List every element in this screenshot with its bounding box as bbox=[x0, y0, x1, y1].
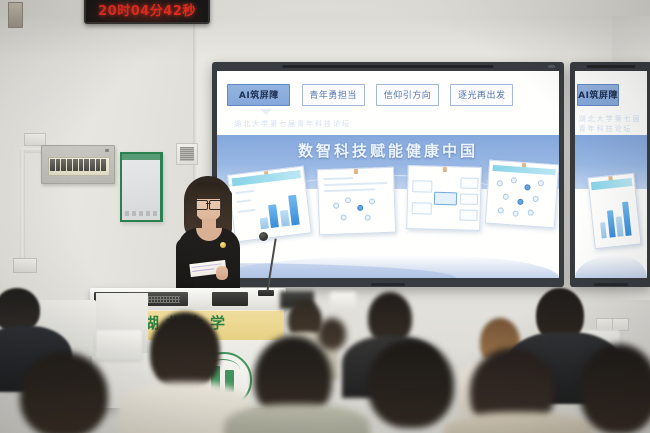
graph-node bbox=[517, 199, 523, 205]
microphone-head-icon bbox=[259, 232, 268, 241]
chart-bar bbox=[622, 201, 631, 235]
classroom-photo: 20时04分42秒 AI筑屏障 湖北大学第七届青年科技论坛 bbox=[0, 0, 650, 433]
chart-bar bbox=[268, 205, 279, 228]
slide-title: 数智科技赋能健康中国 bbox=[217, 140, 559, 161]
display-stand-foot bbox=[371, 283, 405, 286]
bezel-camera-bar bbox=[586, 65, 635, 68]
panel-indicator-icon bbox=[105, 149, 109, 152]
desk-monitor bbox=[330, 292, 356, 314]
diagram-node bbox=[368, 198, 374, 204]
graph-node bbox=[533, 196, 539, 202]
microphone-base bbox=[258, 290, 274, 296]
card-header-bar bbox=[590, 177, 632, 190]
graph-node bbox=[498, 207, 504, 213]
chart-bar bbox=[288, 195, 300, 226]
slide-subtitle-mirror: 湖北大学第七届青年科技论坛 bbox=[579, 117, 644, 131]
network-graph-card bbox=[485, 160, 559, 229]
whiteboard-text-lines bbox=[125, 211, 157, 216]
graph-node bbox=[513, 211, 519, 217]
bezel-camera-bar bbox=[282, 65, 493, 68]
main-display: AI筑屏障 青年勇担当 信仰引方向 逐光再出发 湖北大学第七届青年科技论坛 数智… bbox=[212, 62, 564, 287]
slide-wave-mirror bbox=[575, 255, 647, 278]
flow-node bbox=[459, 194, 477, 205]
document-diagram-card bbox=[317, 167, 396, 236]
secondary-display: AI筑屏障 湖北大学第七届青年科技论坛 bbox=[570, 62, 650, 287]
presentation-slide: AI筑屏障 青年勇担当 信仰引方向 逐光再出发 湖北大学第七届青年科技论坛 数智… bbox=[217, 71, 559, 278]
graph-node bbox=[511, 177, 517, 183]
clip-peg-icon bbox=[353, 167, 357, 174]
card-text-line bbox=[323, 182, 388, 186]
list-item bbox=[587, 172, 641, 249]
graph-node bbox=[524, 184, 530, 190]
tab-ai-barrier[interactable]: AI筑屏障 bbox=[227, 84, 290, 106]
presenter-hand bbox=[216, 266, 228, 280]
chart-bar bbox=[600, 222, 607, 238]
diagram-node bbox=[357, 205, 363, 211]
audience-head bbox=[150, 312, 220, 390]
presenter-badge bbox=[220, 242, 226, 248]
wall-speaker bbox=[176, 143, 198, 165]
card-text-line bbox=[323, 188, 376, 192]
presenter-hair-left bbox=[186, 190, 197, 232]
card-header-bar bbox=[492, 165, 555, 175]
glasses-icon bbox=[195, 200, 222, 208]
slide-tabs-mirror: AI筑屏障 bbox=[577, 81, 645, 108]
flow-node bbox=[459, 210, 477, 221]
main-display-panel: AI筑屏障 青年勇担当 信仰引方向 逐光再出发 湖北大学第七届青年科技论坛 数智… bbox=[217, 71, 559, 278]
graph-node bbox=[538, 180, 544, 186]
diagram-node bbox=[365, 215, 371, 221]
slide-mirror: AI筑屏障 湖北大学第七届青年科技论坛 bbox=[575, 71, 647, 278]
wall-outlet-box bbox=[13, 258, 37, 273]
chart-bar bbox=[607, 209, 615, 236]
diagram-node bbox=[332, 203, 338, 209]
wall-whiteboard bbox=[120, 152, 163, 222]
audience-head bbox=[368, 340, 454, 428]
card-text-line bbox=[323, 177, 353, 180]
diagram-node bbox=[344, 198, 350, 204]
flow-node bbox=[412, 180, 432, 192]
electrical-breaker-panel[interactable] bbox=[41, 145, 115, 184]
chart-bar bbox=[279, 210, 289, 227]
slide-tab-bar: AI筑屏障 青年勇担当 信仰引方向 逐光再出发 bbox=[227, 81, 549, 108]
lectern-monitor-right[interactable] bbox=[212, 292, 248, 306]
tab-youth-duty[interactable]: 青年勇担当 bbox=[302, 84, 365, 106]
audience-shoulders bbox=[224, 404, 370, 433]
chart-bar bbox=[259, 218, 268, 230]
slide-subtitle: 湖北大学第七届青年科技论坛 bbox=[234, 117, 542, 131]
audience-head bbox=[318, 318, 346, 350]
chair-desk bbox=[96, 330, 142, 360]
tab-chase-light[interactable]: 逐光再出发 bbox=[450, 84, 513, 106]
camera-icon bbox=[548, 65, 555, 68]
display-stand-foot bbox=[594, 283, 628, 286]
flowchart-card bbox=[406, 165, 481, 231]
flow-node-highlight bbox=[433, 192, 457, 206]
flow-node bbox=[460, 178, 478, 189]
breaker-switches[interactable] bbox=[50, 159, 106, 171]
wall-frame bbox=[8, 2, 23, 28]
tab-faith-guide[interactable]: 信仰引方向 bbox=[376, 84, 439, 106]
audience-head bbox=[20, 352, 108, 433]
audience-head bbox=[580, 344, 650, 433]
tab-ai[interactable]: AI筑屏障 bbox=[577, 84, 619, 106]
flow-node bbox=[412, 202, 432, 214]
conduit-vertical bbox=[20, 150, 25, 262]
graph-node bbox=[497, 180, 503, 186]
led-clock-display: 20时04分42秒 bbox=[84, 0, 210, 24]
diagram-node bbox=[340, 215, 346, 221]
secondary-display-panel: AI筑屏障 湖北大学第七届青年科技论坛 bbox=[575, 71, 647, 278]
graph-node bbox=[528, 209, 534, 215]
whiteboard-header-strip bbox=[122, 154, 160, 160]
graph-node bbox=[503, 194, 509, 200]
active-tab-caret-icon bbox=[260, 109, 272, 115]
chart-bar bbox=[616, 216, 623, 236]
clip-peg-icon bbox=[442, 165, 446, 172]
led-clock-text: 20时04分42秒 bbox=[98, 5, 196, 22]
